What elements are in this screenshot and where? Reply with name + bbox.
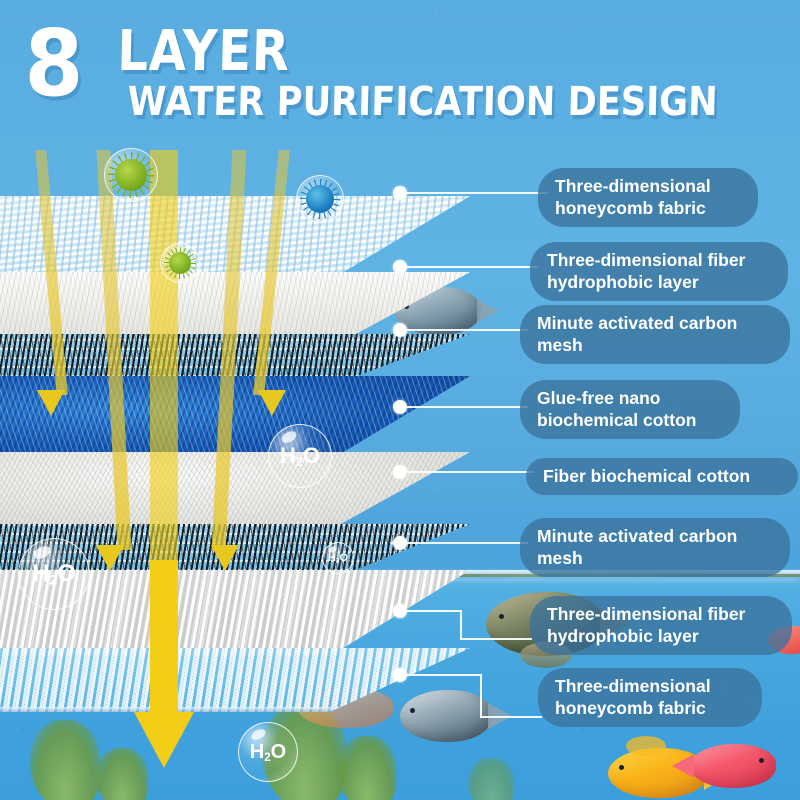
callout-dot-layer-8[interactable] xyxy=(393,668,407,682)
callout-line-layer-8-h1 xyxy=(406,674,482,676)
germ-green-1 xyxy=(104,148,158,202)
layer-slab-4-nano-biochemical-cotton xyxy=(0,376,470,460)
germ-green-2 xyxy=(160,243,200,283)
h2o-bubble-bottom: H2O xyxy=(238,722,298,782)
callout-label-layer-8[interactable]: Three-dimensional honeycomb fabric xyxy=(538,668,762,727)
h2o-bubble-large-left: H2O xyxy=(18,538,90,610)
callout-line-layer-4 xyxy=(406,406,528,408)
callout-line-layer-3 xyxy=(406,329,528,331)
callout-dot-layer-7[interactable] xyxy=(393,604,407,618)
callout-label-layer-6[interactable]: Minute activated carbon mesh xyxy=(520,518,790,577)
callout-dot-layer-5[interactable] xyxy=(393,465,407,479)
h2o-formula: H2O xyxy=(250,741,286,764)
callout-line-layer-2 xyxy=(406,266,538,268)
flow-arrow-head xyxy=(211,545,239,571)
title-block: 8 LAYER WATER PURIFICATION DESIGN xyxy=(0,0,800,140)
callout-label-layer-1[interactable]: Three-dimensional honeycomb fabric xyxy=(538,168,758,227)
callout-dot-layer-3[interactable] xyxy=(393,323,407,337)
h2o-bubble-small: H2O xyxy=(322,542,354,574)
callout-line-layer-6 xyxy=(406,542,528,544)
callout-line-layer-1 xyxy=(406,192,548,194)
callout-line-layer-7-v xyxy=(460,610,462,640)
flow-arrow-main-head xyxy=(134,712,194,768)
flow-arrow-main-solid xyxy=(150,560,178,718)
callout-dot-layer-1[interactable] xyxy=(393,186,407,200)
h2o-formula: H2O xyxy=(328,552,348,565)
title-layer-word: LAYER xyxy=(117,24,291,80)
fish-red-tetra xyxy=(690,744,776,788)
fish-gourami-small xyxy=(400,690,492,742)
germ-blue-1 xyxy=(296,175,344,223)
layer-count-number: 8 xyxy=(24,18,81,110)
flow-arrow-head xyxy=(37,390,65,416)
callout-line-layer-8-h2 xyxy=(480,716,542,718)
layer-slab-5-fiber-biochemical-cotton xyxy=(0,452,470,530)
callout-line-layer-8-v xyxy=(480,674,482,718)
flow-arrow-head xyxy=(258,390,286,416)
callout-label-layer-7[interactable]: Three-dimensional fiber hydrophobic laye… xyxy=(530,596,792,655)
callout-dot-layer-6[interactable] xyxy=(393,536,407,550)
callout-dot-layer-4[interactable] xyxy=(393,400,407,414)
aquatic-plant xyxy=(338,736,396,800)
callout-label-layer-4[interactable]: Glue-free nano biochemical cotton xyxy=(520,380,740,439)
h2o-formula: H2O xyxy=(280,443,320,469)
callout-label-layer-2[interactable]: Three-dimensional fiber hydrophobic laye… xyxy=(530,242,788,301)
h2o-bubble-large-right: H2O xyxy=(268,424,332,488)
title-subtitle: WATER PURIFICATION DESIGN xyxy=(127,82,718,122)
h2o-formula: H2O xyxy=(32,560,76,588)
callout-line-layer-7-h2 xyxy=(460,638,532,640)
aquatic-plant xyxy=(30,720,100,800)
callout-line-layer-7-h1 xyxy=(406,610,462,612)
flow-arrow-head xyxy=(96,545,124,571)
aquatic-plant xyxy=(468,758,514,800)
infographic-canvas: H2O H2O H2O H2O Three-dimensional honeyc… xyxy=(0,0,800,800)
callout-dot-layer-2[interactable] xyxy=(393,260,407,274)
callout-line-layer-5 xyxy=(406,471,534,473)
callout-label-layer-3[interactable]: Minute activated carbon mesh xyxy=(520,305,790,364)
callout-label-layer-5[interactable]: Fiber biochemical cotton xyxy=(526,458,798,495)
